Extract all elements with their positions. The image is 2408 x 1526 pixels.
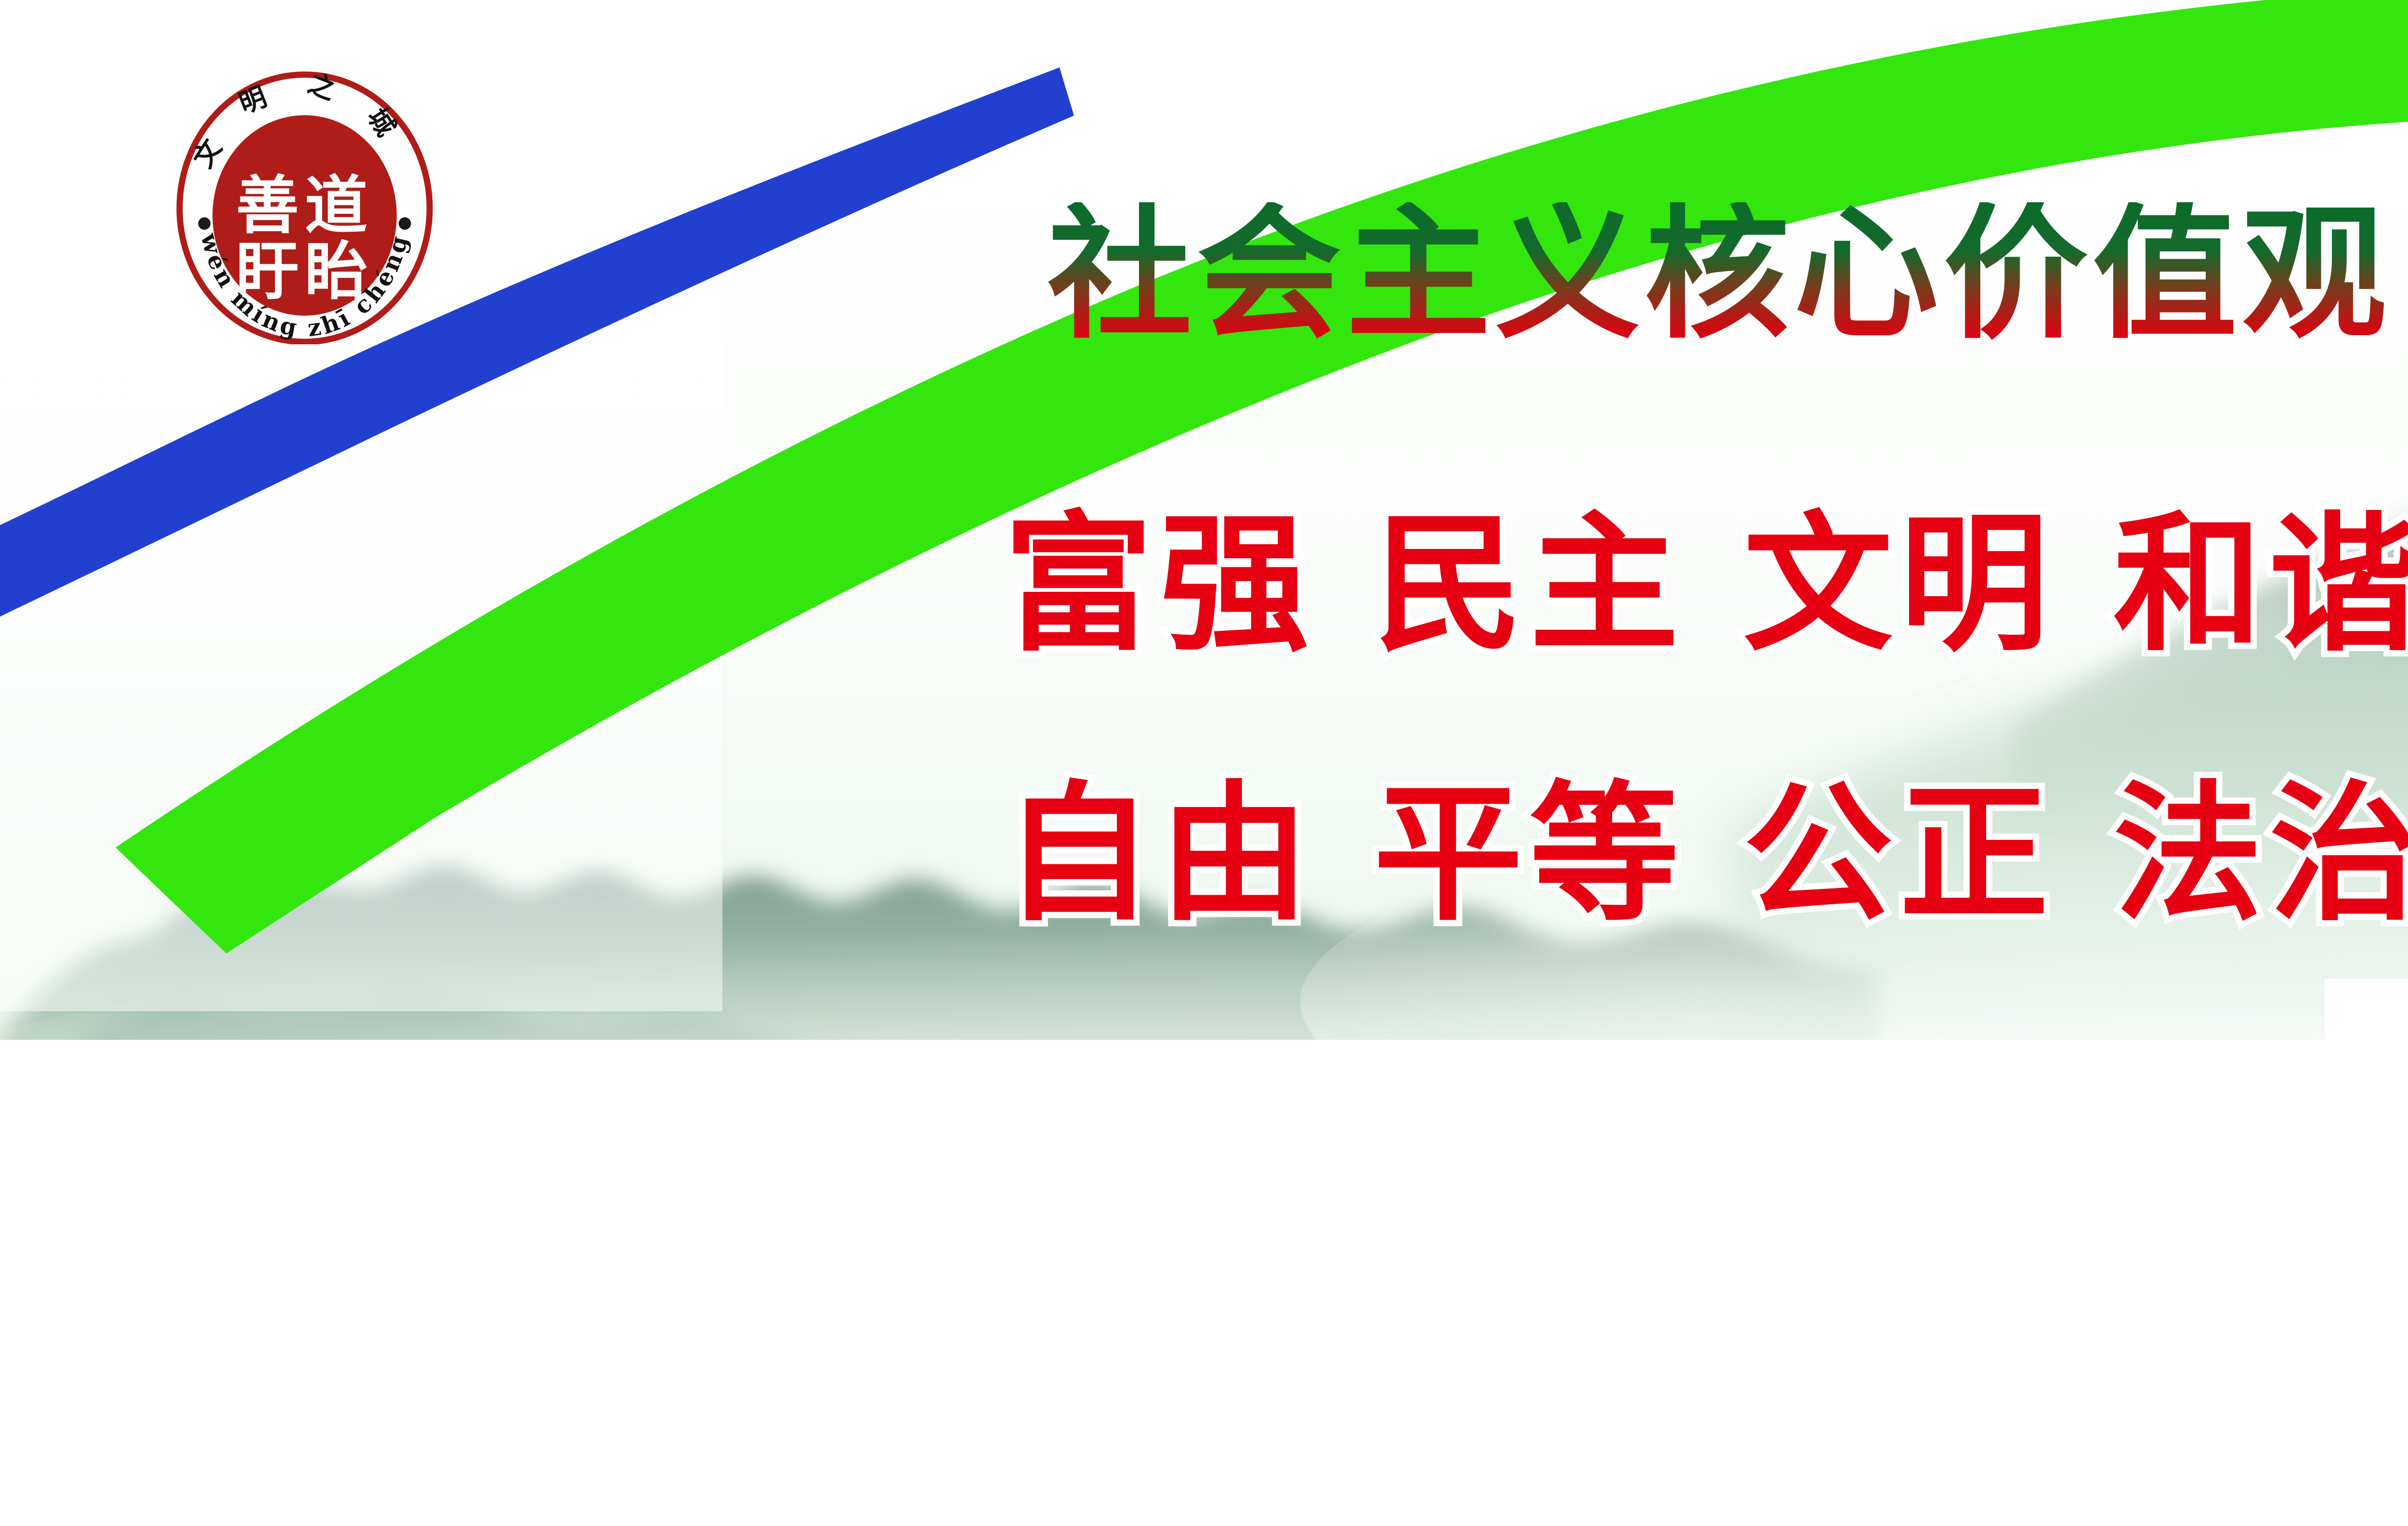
poster-canvas: 文明之城 善道 盱眙 wén míng zhī chéng 社会主义核心价值观 … <box>0 0 2408 1526</box>
right-blue-swoosh-inner <box>2398 1233 2408 1526</box>
right-blue-swoosh-outer <box>2379 1165 2408 1526</box>
right-swooshes <box>1946 1069 2408 1526</box>
right-blue-swoosh-body <box>1946 1069 2408 1526</box>
bottom-left-waves <box>0 1321 1743 1526</box>
logo-seal[interactable]: 文明之城 善道 盱眙 wén míng zhī chéng <box>171 70 438 344</box>
top-green-arc <box>116 0 2408 953</box>
seal-dot-right <box>399 217 411 230</box>
right-blue-thin-swoosh <box>2350 828 2408 1526</box>
seal-dot-left <box>198 217 210 230</box>
seal-graphic: 文明之城 善道 盱眙 wén míng zhī chéng <box>171 70 438 344</box>
seal-center-line-1: 善道 <box>236 169 373 242</box>
